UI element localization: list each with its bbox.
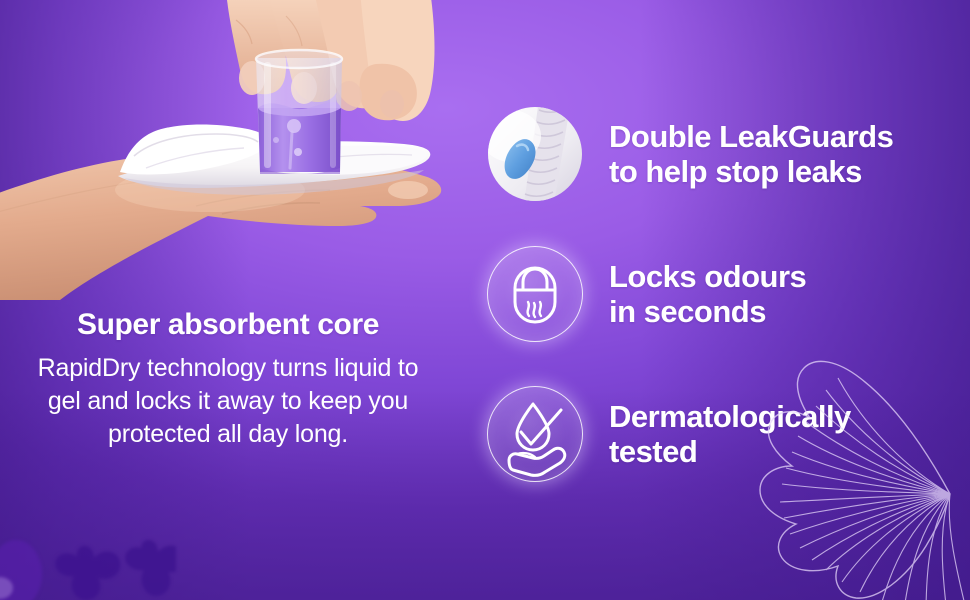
flower-silhouettes-icon — [0, 500, 176, 600]
feature-line-2: in seconds — [609, 294, 806, 329]
feature-line-2: to help stop leaks — [609, 154, 893, 189]
ginkgo-leaf-icon — [688, 326, 970, 600]
left-body-text: RapidDry technology turns liquid to gel … — [18, 352, 438, 452]
padlock-odour-icon — [487, 246, 583, 342]
feature-row-leakguards: Double LeakGuards to help stop leaks — [487, 84, 957, 224]
product-photo — [0, 0, 470, 300]
promo-banner: Super absorbent core RapidDry technology… — [0, 0, 970, 600]
feature-line-1: Locks odours — [609, 259, 806, 294]
left-copy-block: Super absorbent core RapidDry technology… — [18, 308, 438, 451]
pad-leakguard-photo-icon — [487, 106, 583, 202]
feature-text-leakguards: Double LeakGuards to help stop leaks — [609, 119, 893, 190]
feature-text-odours: Locks odours in seconds — [609, 259, 806, 330]
feature-line-1: Double LeakGuards — [609, 119, 893, 154]
droplet-hand-icon — [487, 386, 583, 482]
left-heading: Super absorbent core — [18, 308, 438, 342]
